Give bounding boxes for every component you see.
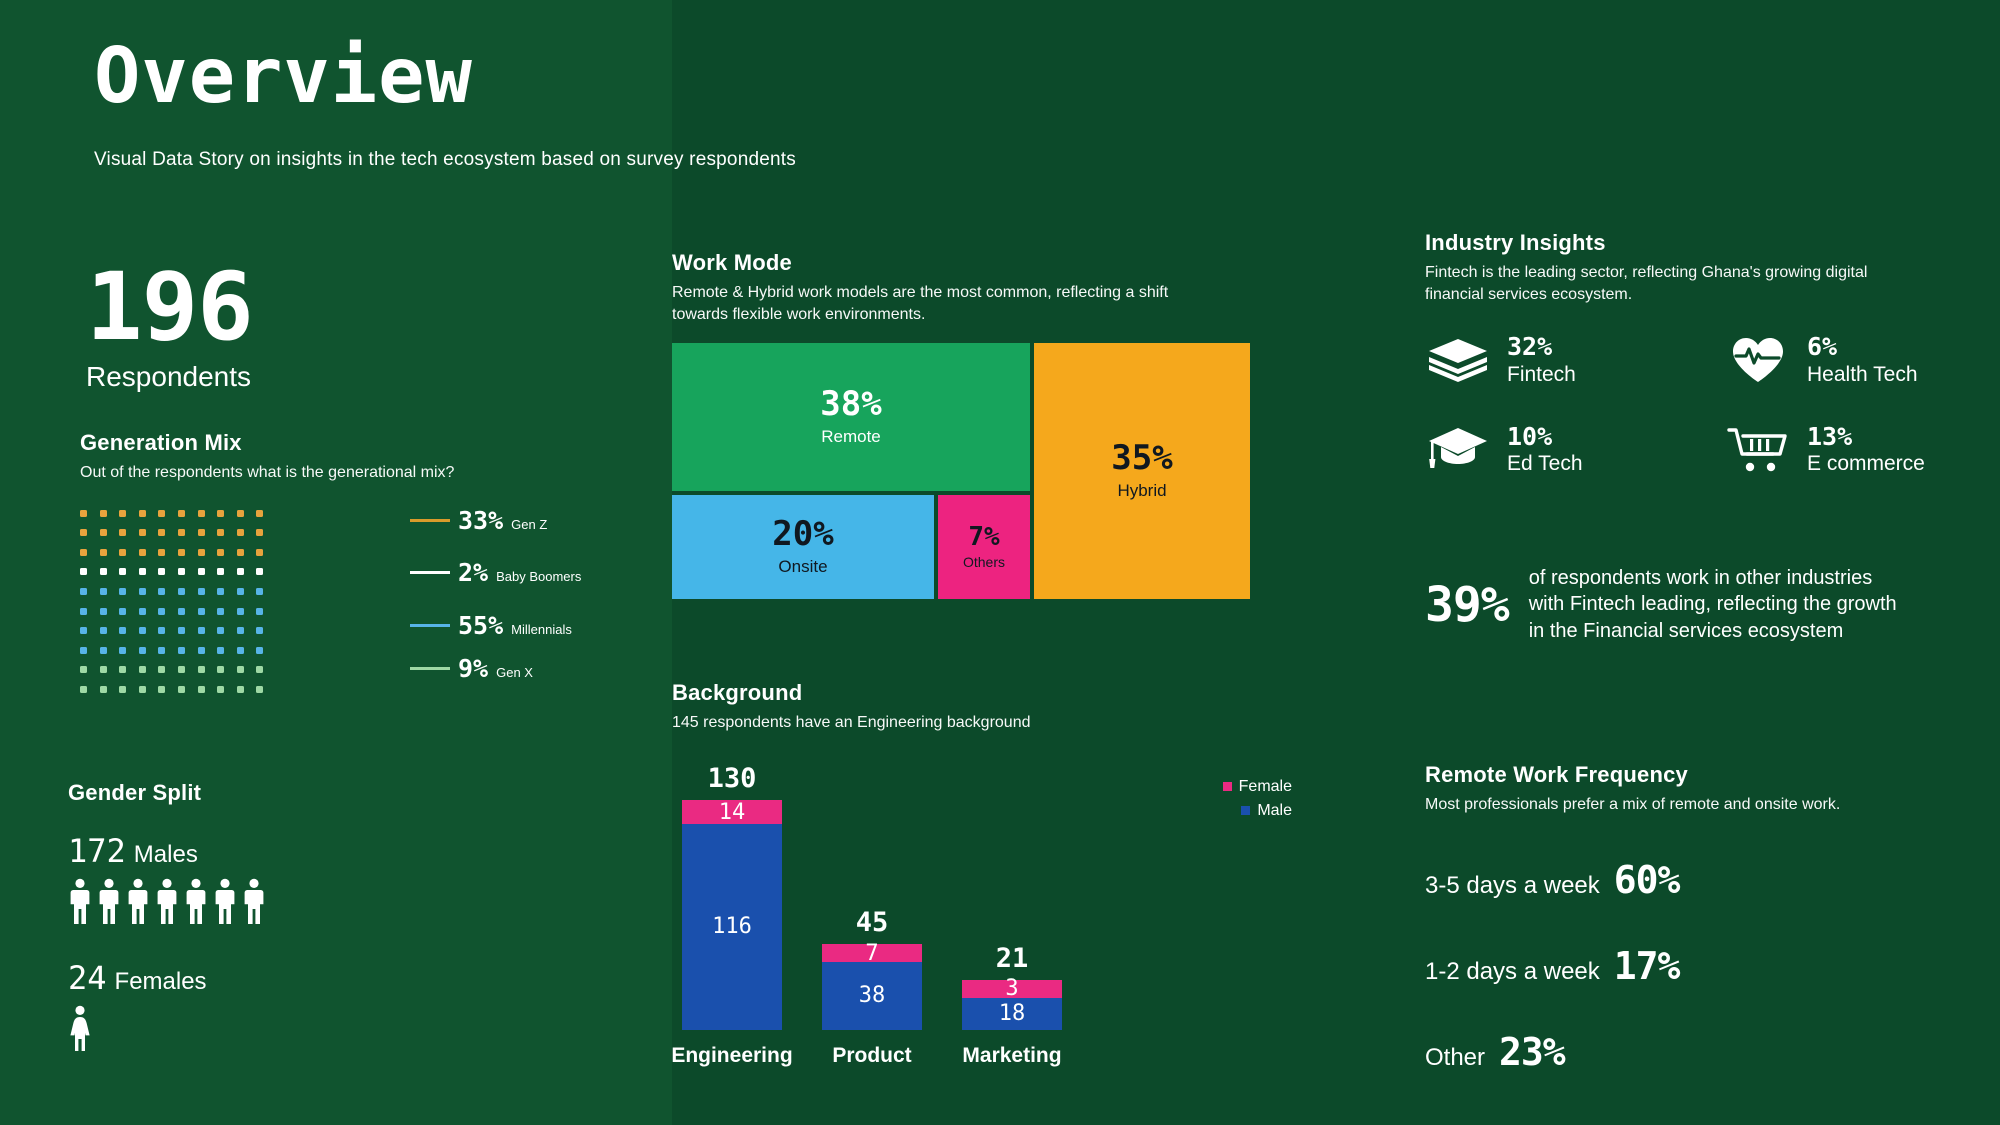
generation-dot xyxy=(256,647,263,654)
other-industries-percent: 39% xyxy=(1425,577,1509,633)
generation-dot xyxy=(80,588,87,595)
remote-frequency-percent: 60% xyxy=(1614,858,1680,902)
male-figure-icon xyxy=(68,878,92,929)
legend-swatch xyxy=(1223,782,1232,791)
generation-dot xyxy=(217,588,224,595)
generation-dot xyxy=(256,529,263,536)
generation-dot xyxy=(217,510,224,517)
legend-line xyxy=(410,519,450,522)
generation-dot xyxy=(198,608,205,615)
remote-frequency-row: 3-5 days a week60% xyxy=(1425,858,1905,902)
gender-split-title: Gender Split xyxy=(68,780,488,806)
generation-dot xyxy=(100,510,107,517)
dot-row xyxy=(80,588,342,595)
bar-segment-value: 14 xyxy=(719,800,746,825)
generation-dot xyxy=(100,666,107,673)
industry-items-grid: 32%Fintech6%Health Tech10%Ed Tech13%E co… xyxy=(1425,333,1925,476)
generation-dot xyxy=(119,686,126,693)
industry-percent: 32% xyxy=(1507,333,1576,361)
work-mode-tile[interactable]: 35%Hybrid xyxy=(1034,343,1250,599)
remote-frequency-percent: 23% xyxy=(1499,1030,1565,1074)
generation-dot xyxy=(237,549,244,556)
females-count: 24 xyxy=(68,959,107,997)
generation-dot xyxy=(139,686,146,693)
generation-mix-title: Generation Mix xyxy=(80,430,620,456)
industry-insights-subtitle: Fintech is the leading sector, reflectin… xyxy=(1425,262,1925,305)
header: Overview Visual Data Story on insights i… xyxy=(94,38,796,171)
generation-dot xyxy=(100,529,107,536)
generation-dot xyxy=(237,627,244,634)
females-row: 24Females xyxy=(68,959,488,1056)
generation-dot xyxy=(80,666,87,673)
background-legend: FemaleMale xyxy=(1223,778,1292,826)
generation-dot xyxy=(237,510,244,517)
generation-dot xyxy=(139,608,146,615)
legend-line xyxy=(410,624,450,627)
generation-dot xyxy=(139,666,146,673)
generation-dot xyxy=(178,666,185,673)
industry-item[interactable]: 32%Fintech xyxy=(1425,333,1725,387)
male-figure-icon xyxy=(213,878,237,924)
generation-dot xyxy=(237,686,244,693)
generation-dot xyxy=(178,588,185,595)
legend-label: Gen Z xyxy=(511,517,547,532)
bar-total-label: 21 xyxy=(996,943,1029,974)
bar-segment[interactable]: 14 xyxy=(682,800,782,825)
industry-label: Ed Tech xyxy=(1507,452,1583,476)
generation-dot xyxy=(80,686,87,693)
generation-dot xyxy=(178,529,185,536)
background-section: Background 145 respondents have an Engin… xyxy=(672,680,1272,1076)
legend-label: Gen X xyxy=(496,665,533,680)
dot-row xyxy=(80,549,342,556)
generation-dot xyxy=(178,686,185,693)
generation-dot xyxy=(80,627,87,634)
males-label: Males xyxy=(134,841,198,868)
generation-dot xyxy=(256,627,263,634)
infographic-canvas: Overview Visual Data Story on insights i… xyxy=(0,0,2000,1125)
generation-dot xyxy=(158,666,165,673)
tile-percent: 20% xyxy=(772,517,833,551)
bar-segment-value: 116 xyxy=(712,914,752,939)
remote-frequency-label: Other xyxy=(1425,1044,1485,1072)
legend-label: Millennials xyxy=(511,622,572,637)
bar-column[interactable]: 45738 xyxy=(822,907,922,1029)
remote-frequency-rows: 3-5 days a week60%1-2 days a week17%Othe… xyxy=(1425,858,1905,1074)
male-figure-icon xyxy=(213,878,237,929)
bar-segment-value: 38 xyxy=(859,983,886,1008)
male-figure-icons xyxy=(68,878,488,929)
generation-dot-grid xyxy=(80,510,342,693)
generation-dot xyxy=(256,608,263,615)
tile-percent: 7% xyxy=(968,524,999,550)
generation-dot xyxy=(119,529,126,536)
generation-dot xyxy=(100,608,107,615)
dot-row xyxy=(80,529,342,536)
tile-percent: 38% xyxy=(820,387,881,421)
remote-frequency-label: 3-5 days a week xyxy=(1425,872,1600,900)
page-title: Overview xyxy=(94,38,796,115)
male-figure-icon xyxy=(97,878,121,924)
work-mode-subtitle: Remote & Hybrid work models are the most… xyxy=(672,282,1227,325)
remote-frequency-row: Other23% xyxy=(1425,1030,1905,1074)
legend-line xyxy=(410,571,450,574)
industry-label: Fintech xyxy=(1507,363,1576,387)
generation-dot xyxy=(119,588,126,595)
generation-dot xyxy=(158,510,165,517)
industry-item[interactable]: 10%Ed Tech xyxy=(1425,423,1725,477)
legend-swatch xyxy=(1241,806,1250,815)
generation-dot xyxy=(119,647,126,654)
other-industries-text: of respondents work in other industries … xyxy=(1529,565,1905,644)
bar-segment[interactable]: 116 xyxy=(682,824,782,1029)
dot-row xyxy=(80,627,342,634)
bar-segment-value: 18 xyxy=(999,1001,1026,1026)
generation-dot xyxy=(237,647,244,654)
generation-dot xyxy=(158,588,165,595)
generation-dot xyxy=(198,588,205,595)
generation-dot xyxy=(237,608,244,615)
male-figure-icon xyxy=(126,878,150,929)
generation-dot xyxy=(256,510,263,517)
generation-dot xyxy=(119,608,126,615)
generation-dot xyxy=(158,627,165,634)
generation-dot xyxy=(256,549,263,556)
generation-dot xyxy=(158,608,165,615)
female-figure-icons xyxy=(68,1005,488,1056)
males-row: 172Males xyxy=(68,832,488,929)
dot-row xyxy=(80,647,342,654)
female-figure-icon xyxy=(68,1005,92,1056)
male-figure-icon xyxy=(155,878,179,924)
work-mode-section: Work Mode Remote & Hybrid work models ar… xyxy=(672,250,1252,599)
generation-dot xyxy=(80,549,87,556)
bar-category-label: Marketing xyxy=(948,1044,1076,1068)
male-figure-icon xyxy=(184,878,208,924)
money-stack-icon xyxy=(1425,334,1491,386)
generation-dot xyxy=(119,627,126,634)
background-title: Background xyxy=(672,680,1272,706)
dot-row xyxy=(80,568,342,575)
heart-pulse-icon xyxy=(1725,334,1791,386)
generation-dot xyxy=(256,686,263,693)
generation-dot xyxy=(100,686,107,693)
industry-item[interactable]: 13%E commerce xyxy=(1725,423,1925,477)
tile-label: Others xyxy=(963,554,1005,570)
generation-dot xyxy=(100,568,107,575)
generation-dot xyxy=(178,627,185,634)
generation-dot xyxy=(198,627,205,634)
generation-dot xyxy=(139,529,146,536)
background-bar-chart: FemaleMale 13014116Engineering45738Produ… xyxy=(672,756,1292,1076)
generation-dot xyxy=(100,549,107,556)
generation-dot xyxy=(198,686,205,693)
industry-label: E commerce xyxy=(1807,452,1925,476)
generation-dot xyxy=(139,568,146,575)
male-figure-icon xyxy=(184,878,208,929)
work-mode-tile[interactable]: 20%Onsite xyxy=(672,495,934,599)
generation-dot xyxy=(119,568,126,575)
male-figure-icon xyxy=(126,878,150,924)
generation-dot xyxy=(178,647,185,654)
shopping-cart-icon xyxy=(1725,423,1791,475)
generation-dot xyxy=(198,529,205,536)
tile-label: Onsite xyxy=(778,557,827,577)
legend-label: Male xyxy=(1257,802,1292,820)
industry-item[interactable]: 6%Health Tech xyxy=(1725,333,1925,387)
generation-dot xyxy=(217,686,224,693)
industry-insights-title: Industry Insights xyxy=(1425,230,1925,256)
bar-stack: 318 xyxy=(962,980,1062,1030)
generation-dot xyxy=(158,549,165,556)
generation-dot xyxy=(217,549,224,556)
generation-dot xyxy=(80,568,87,575)
graduation-cap-icon xyxy=(1425,423,1491,475)
bar-segment[interactable]: 38 xyxy=(822,962,922,1029)
legend-percent: 2% xyxy=(458,558,488,587)
generation-mix-subtitle: Out of the respondents what is the gener… xyxy=(80,462,620,484)
industry-text: 32%Fintech xyxy=(1507,333,1576,387)
generation-dot xyxy=(217,529,224,536)
legend-percent: 33% xyxy=(458,506,503,535)
bar-category-label: Product xyxy=(808,1044,936,1068)
generation-dot xyxy=(80,608,87,615)
dot-row xyxy=(80,510,342,517)
generation-dot xyxy=(198,666,205,673)
male-figure-icon xyxy=(242,878,266,929)
generation-dot xyxy=(158,568,165,575)
industry-insights-section: Industry Insights Fintech is the leading… xyxy=(1425,230,1925,476)
generation-dot xyxy=(217,608,224,615)
dot-row xyxy=(80,608,342,615)
work-mode-tile[interactable]: 7%Others xyxy=(938,495,1030,599)
generation-dot xyxy=(100,647,107,654)
generation-dot xyxy=(158,686,165,693)
bar-segment[interactable]: 3 xyxy=(962,980,1062,998)
generation-dot xyxy=(198,549,205,556)
respondents-count: 196 xyxy=(86,265,253,351)
generation-dot xyxy=(119,666,126,673)
other-industries-stat: 39% of respondents work in other industr… xyxy=(1425,565,1905,644)
generation-dot xyxy=(198,568,205,575)
bar-column[interactable]: 21318 xyxy=(962,943,1062,1030)
bar-legend-item: Female xyxy=(1223,778,1292,796)
generation-mix-section: Generation Mix Out of the respondents wh… xyxy=(80,430,620,690)
generation-dot xyxy=(217,666,224,673)
generation-dot xyxy=(237,666,244,673)
generation-dot xyxy=(178,568,185,575)
industry-percent: 6% xyxy=(1807,333,1918,361)
bar-total-label: 45 xyxy=(856,907,889,938)
legend-line xyxy=(410,667,450,670)
males-count: 172 xyxy=(68,832,126,870)
bar-segment[interactable]: 18 xyxy=(962,998,1062,1030)
generation-dot xyxy=(256,568,263,575)
generation-dot xyxy=(237,529,244,536)
remote-frequency-percent: 17% xyxy=(1614,944,1680,988)
male-figure-icon xyxy=(68,878,92,924)
generation-dot xyxy=(139,549,146,556)
industry-label: Health Tech xyxy=(1807,363,1918,387)
generation-dot xyxy=(256,666,263,673)
legend-percent: 9% xyxy=(458,654,488,683)
bar-total-label: 130 xyxy=(708,763,757,794)
females-label: Females xyxy=(115,968,207,995)
generation-dot xyxy=(237,568,244,575)
remote-frequency-subtitle: Most professionals prefer a mix of remot… xyxy=(1425,794,1905,816)
legend-label: Baby Boomers xyxy=(496,569,581,584)
bar-stack: 738 xyxy=(822,944,922,1029)
bar-legend-item: Male xyxy=(1223,802,1292,820)
remote-frequency-row: 1-2 days a week17% xyxy=(1425,944,1905,988)
work-mode-tile[interactable]: 38%Remote xyxy=(672,343,1030,491)
generation-dot xyxy=(237,588,244,595)
bar-stack: 14116 xyxy=(682,800,782,1030)
generation-dot xyxy=(178,608,185,615)
generation-dot xyxy=(100,627,107,634)
tile-percent: 35% xyxy=(1111,441,1172,475)
generation-dot xyxy=(139,647,146,654)
legend-percent: 55% xyxy=(458,611,503,640)
dot-row xyxy=(80,686,342,693)
bar-segment[interactable]: 7 xyxy=(822,944,922,962)
remote-frequency-title: Remote Work Frequency xyxy=(1425,762,1905,788)
generation-dot xyxy=(139,588,146,595)
generation-dot xyxy=(178,549,185,556)
remote-frequency-label: 1-2 days a week xyxy=(1425,958,1600,986)
generation-legend-item: 2%Baby Boomers xyxy=(410,558,581,587)
generation-dot xyxy=(139,627,146,634)
generation-dot xyxy=(158,529,165,536)
legend-label: Female xyxy=(1239,778,1292,796)
industry-text: 10%Ed Tech xyxy=(1507,423,1583,477)
generation-dot xyxy=(198,647,205,654)
generation-dot xyxy=(256,588,263,595)
generation-dot xyxy=(178,510,185,517)
dot-row xyxy=(80,666,342,673)
page-subtitle: Visual Data Story on insights in the tec… xyxy=(94,149,796,171)
male-figure-icon xyxy=(97,878,121,929)
background-subtitle: 145 respondents have an Engineering back… xyxy=(672,712,1272,734)
bar-category-label: Engineering xyxy=(668,1044,796,1068)
generation-dot xyxy=(217,627,224,634)
gender-split-section: Gender Split 172Males 24Females xyxy=(68,780,488,1056)
male-figure-icon xyxy=(155,878,179,929)
generation-legend-item: 33%Gen Z xyxy=(410,506,547,535)
generation-dot xyxy=(100,588,107,595)
generation-legend-item: 9%Gen X xyxy=(410,654,533,683)
generation-dot xyxy=(119,549,126,556)
generation-dot xyxy=(158,647,165,654)
generation-dot xyxy=(139,510,146,517)
generation-dot xyxy=(80,510,87,517)
remote-frequency-section: Remote Work Frequency Most professionals… xyxy=(1425,762,1905,1074)
work-mode-title: Work Mode xyxy=(672,250,1252,276)
generation-legend: 33%Gen Z2%Baby Boomers55%Millennials9%Ge… xyxy=(410,506,640,692)
industry-text: 13%E commerce xyxy=(1807,423,1925,477)
male-figure-icon xyxy=(242,878,266,924)
tile-label: Hybrid xyxy=(1117,481,1166,501)
work-mode-treemap: 38%Remote20%Onsite7%Others35%Hybrid xyxy=(672,343,1250,599)
industry-percent: 10% xyxy=(1507,423,1583,451)
respondents-label: Respondents xyxy=(86,361,253,393)
bar-column[interactable]: 13014116 xyxy=(682,763,782,1030)
generation-dot xyxy=(80,529,87,536)
industry-percent: 13% xyxy=(1807,423,1925,451)
generation-dot xyxy=(198,510,205,517)
generation-dot xyxy=(217,568,224,575)
industry-text: 6%Health Tech xyxy=(1807,333,1918,387)
generation-dot xyxy=(217,647,224,654)
generation-dot xyxy=(80,647,87,654)
tile-label: Remote xyxy=(821,427,881,447)
female-figure-icon xyxy=(68,1005,92,1051)
generation-dot xyxy=(119,510,126,517)
respondents-stat: 196 Respondents xyxy=(86,265,253,393)
generation-legend-item: 55%Millennials xyxy=(410,611,572,640)
